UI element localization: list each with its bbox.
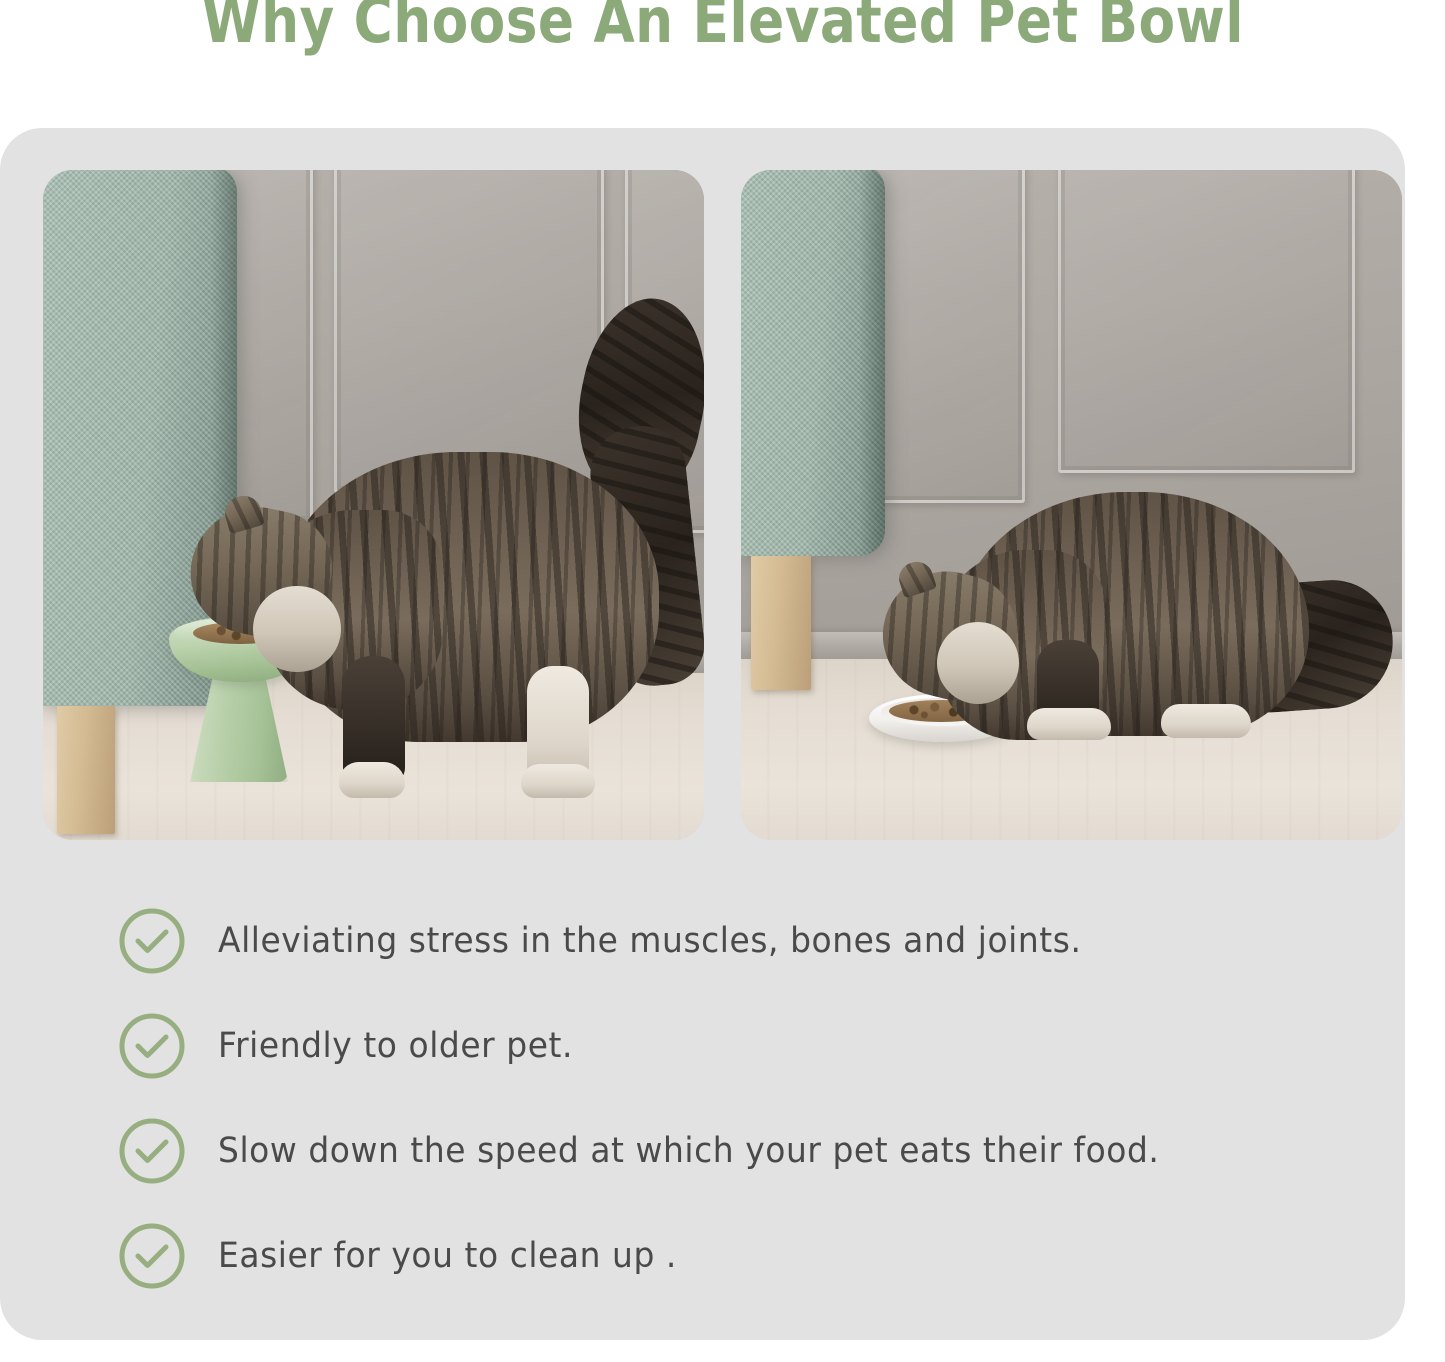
wall-panel-right [334,170,604,493]
content-card: Alleviating stress in the muscles, bones… [0,128,1405,1340]
sofa-upholstery [741,170,885,556]
check-circle-icon [118,907,186,975]
comparison-photo-row [43,170,1402,840]
benefit-item: Easier for you to clean up . [0,1203,1405,1308]
check-circle-icon [118,1222,186,1290]
benefits-list: Alleviating stress in the muscles, bones… [0,888,1405,1308]
check-circle-icon [118,1012,186,1080]
benefit-label: Easier for you to clean up . [218,1236,677,1276]
benefit-label: Friendly to older pet. [218,1026,573,1066]
check-circle-icon [118,1117,186,1185]
floor-bowl-photo [741,170,1402,840]
elevated-bowl-photo [43,170,704,840]
sofa-leg [57,706,115,834]
benefit-item: Friendly to older pet. [0,993,1405,1098]
cat-front-paw [339,762,405,798]
sofa-edge-shadow [859,170,885,556]
cat-back-paw [1161,704,1251,738]
cat-chest-ruff [937,622,1019,704]
benefit-label: Slow down the speed at which your pet ea… [218,1131,1159,1171]
cat-back-paw [521,764,595,798]
wall-panel-right [1058,170,1355,473]
cat-front-paw [1027,708,1111,740]
benefit-item: Slow down the speed at which your pet ea… [0,1098,1405,1203]
benefit-label: Alleviating stress in the muscles, bones… [218,921,1081,961]
benefit-item: Alleviating stress in the muscles, bones… [0,888,1405,993]
page-title: Why Choose An Elevated Pet Bowl [201,0,1243,60]
sofa-leg [751,556,811,690]
cat-chest-ruff [253,586,341,672]
page-title-container: Why Choose An Elevated Pet Bowl [0,0,1445,62]
